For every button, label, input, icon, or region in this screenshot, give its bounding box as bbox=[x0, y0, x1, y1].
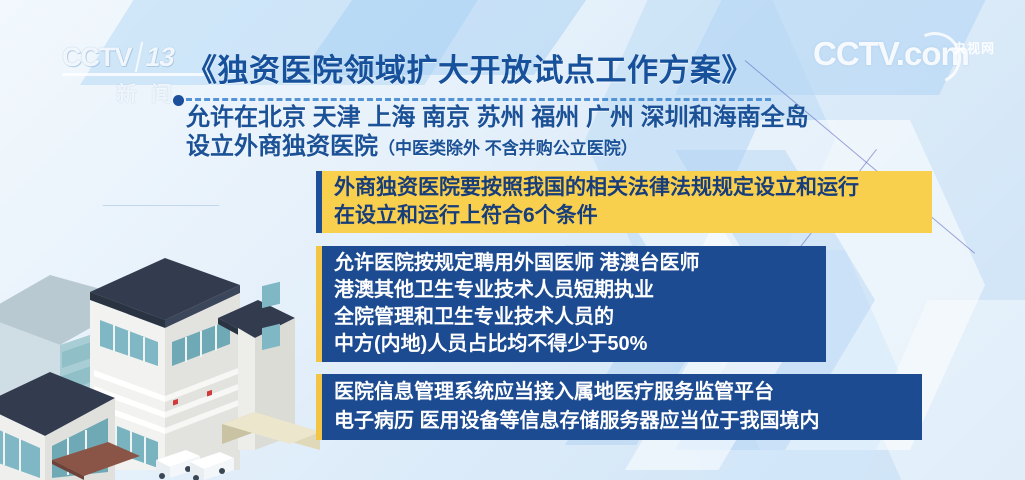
callout-information-system-line-2: 电子病历 医用设备等信息存储服务器应当位于我国境内 bbox=[334, 407, 922, 436]
page-title: 《独资医院领域扩大开放试点工作方案》 bbox=[186, 52, 946, 90]
watermark-chinese-label: 央视网 bbox=[953, 38, 995, 57]
callout-staffing-line-4: 中方(内地)人员占比均不得少于50% bbox=[334, 331, 826, 358]
broadcast-graphic: CCTV13 新闻 央视网 CCTV.com 《独资医院领域扩大开放试点工作方案… bbox=[0, 0, 1025, 480]
headline-block: 《独资医院领域扩大开放试点工作方案》 bbox=[186, 52, 946, 90]
callout-staffing-line-1: 允许医院按规定聘用外国医师 港澳台医师 bbox=[334, 250, 826, 277]
hospital-building-illustration bbox=[0, 220, 340, 480]
bullet-dot-icon bbox=[173, 95, 184, 106]
hospital-building-svg bbox=[0, 220, 340, 480]
callout-requirements-line-1: 外商独资医院要按照我国的相关法律法规规定设立和运行 bbox=[334, 174, 932, 202]
cctv-logo-text: CCTV bbox=[62, 42, 132, 72]
callout-staffing-line-3: 全院管理和卫生专业技术人员的 bbox=[334, 304, 826, 331]
subtitle-scope-main: 设立外商独资医院 bbox=[186, 133, 378, 160]
dashed-divider bbox=[186, 98, 771, 101]
subtitle-scope-note: （中医类除外 不含并购公立医院） bbox=[378, 139, 638, 158]
callout-staffing: 允许医院按规定聘用外国医师 港澳台医师 港澳其他卫生专业技术人员短期执业 全院管… bbox=[316, 246, 826, 362]
callout-staffing-line-2: 港澳其他卫生专业技术人员短期执业 bbox=[334, 277, 826, 304]
cctv-logo-number: 13 bbox=[134, 42, 182, 72]
callout-requirements: 外商独资医院要按照我国的相关法律法规规定设立和运行 在设立和运行上符合6个条件 bbox=[316, 171, 932, 233]
callout-requirements-line-2: 在设立和运行上符合6个条件 bbox=[334, 202, 932, 230]
subtitle-line-scope: 设立外商独资医院（中医类除外 不含并购公立医院） bbox=[186, 133, 638, 163]
callout-information-system: 医院信息管理系统应当接入属地医疗服务监管平台 电子病历 医用设备等信息存储服务器… bbox=[316, 374, 922, 440]
callout-information-system-line-1: 医院信息管理系统应当接入属地医疗服务监管平台 bbox=[334, 378, 922, 407]
subtitle-line-cities: 允许在北京 天津 上海 南京 苏州 福州 广州 深圳和海南全岛 bbox=[186, 104, 809, 132]
